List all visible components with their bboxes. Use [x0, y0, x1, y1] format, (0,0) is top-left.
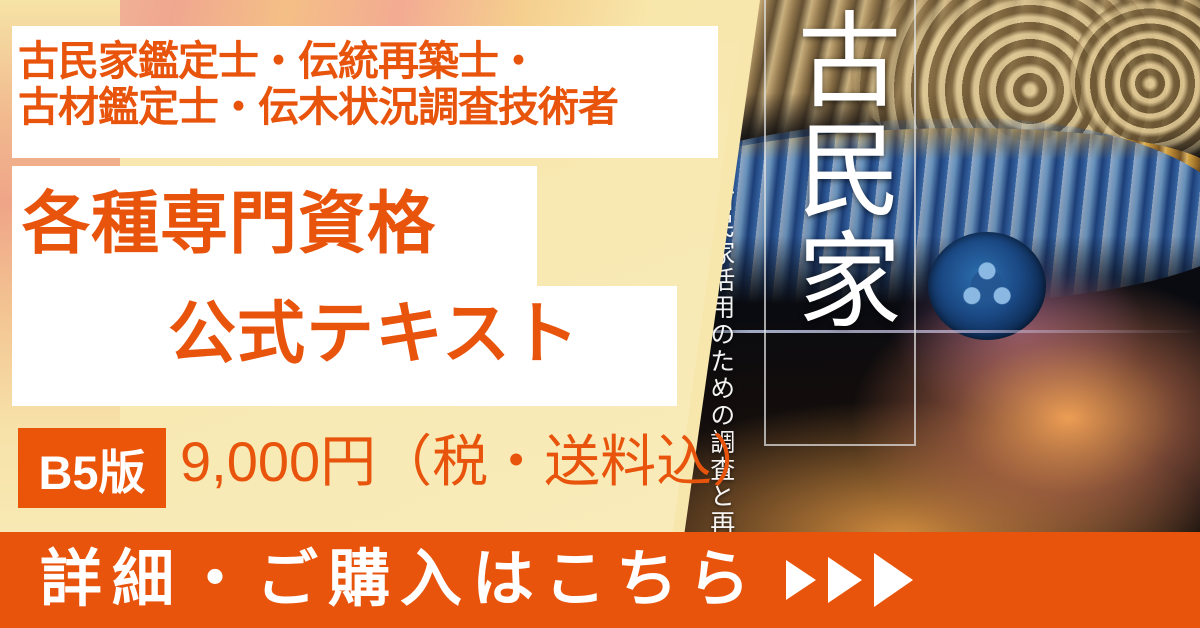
- price-text: 9,000円（税・送料込）: [180, 434, 768, 490]
- promotional-banner: 古民家 伝統構法 古民家活用のための調査と再生の 古民家鑑定士・伝統再築士・ 古…: [0, 0, 1200, 628]
- triangle-right-icon: [828, 557, 862, 603]
- headline-line-1: 各種専門資格: [22, 190, 436, 258]
- cta-label: 詳細・ご購入はこちら: [40, 549, 760, 611]
- qualification-line-1: 古民家鑑定士・伝統再築士・: [18, 40, 718, 83]
- cta-arrows: [786, 553, 913, 607]
- triangle-right-icon: [786, 560, 816, 600]
- qualification-line-2: 古材鑑定士・伝木状況調査技術者: [18, 86, 718, 129]
- headline-line-2: 公式テキスト: [168, 300, 580, 368]
- cta-bar[interactable]: 詳細・ご購入はこちら: [0, 532, 1200, 628]
- family-crest-medallion-icon: [928, 232, 1046, 340]
- book-cover-title: 古民家: [770, 6, 906, 336]
- book-size-badge: B5版: [18, 428, 166, 508]
- triangle-right-icon: [874, 553, 913, 607]
